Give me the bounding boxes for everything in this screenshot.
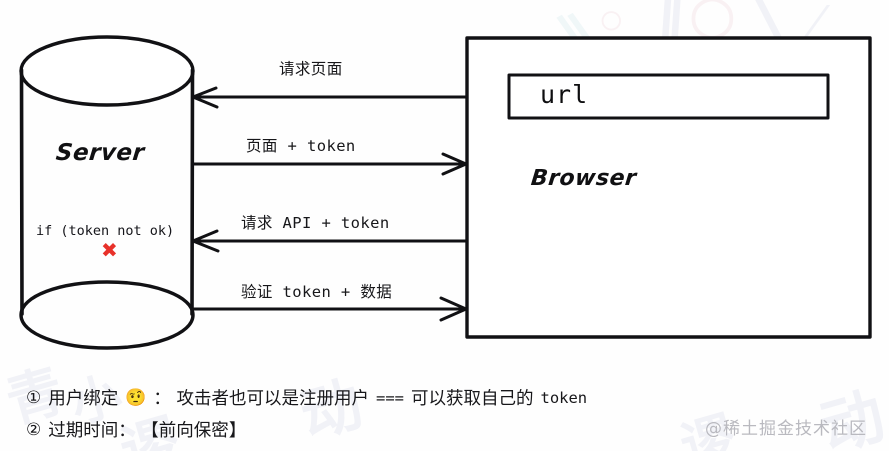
server-cylinder: [21, 37, 193, 348]
arrow-page-token: [194, 154, 466, 174]
note-1-text-b: ： 攻击者也可以是注册用户: [153, 385, 369, 410]
browser-box: [467, 38, 870, 337]
url-field-value[interactable]: url: [540, 80, 588, 109]
note-item-1: ① 用户绑定 🤨 ： 攻击者也可以是注册用户 === 可以获取自己的 token: [26, 385, 587, 410]
note-1-number: ①: [26, 388, 41, 408]
diagram-canvas: 青小动谡动谡》○∥◯╲∕: [0, 0, 889, 451]
note-2-number: ②: [26, 420, 41, 440]
source-credit-watermark: @稀土掘金技术社区: [705, 414, 867, 439]
note-1-token-word: token: [540, 389, 587, 407]
note-2-text: 过期时间： 【前向保密】: [48, 417, 246, 442]
arrow-label-request-page: 请求页面: [279, 57, 343, 79]
arrow-label-page-token: 页面 + token: [246, 134, 356, 156]
server-label: Server: [55, 140, 146, 166]
browser-label: Browser: [530, 166, 638, 191]
note-item-2: ② 过期时间： 【前向保密】: [26, 417, 246, 442]
arrow-label-verify-token-data: 验证 token + 数据: [241, 280, 392, 302]
reject-cross-icon: ✖: [101, 240, 118, 260]
arrow-request-api-token: [193, 231, 466, 251]
thinking-face-icon: 🤨: [125, 390, 146, 407]
note-1-text-c: 可以获取自己的: [411, 385, 534, 410]
note-1-operator: ===: [376, 389, 404, 407]
server-condition-text: if (token not ok): [36, 223, 174, 239]
note-1-text-a: 用户绑定: [48, 385, 118, 410]
arrow-label-request-api-token: 请求 API + token: [241, 211, 390, 233]
arrow-request-page: [193, 88, 466, 107]
